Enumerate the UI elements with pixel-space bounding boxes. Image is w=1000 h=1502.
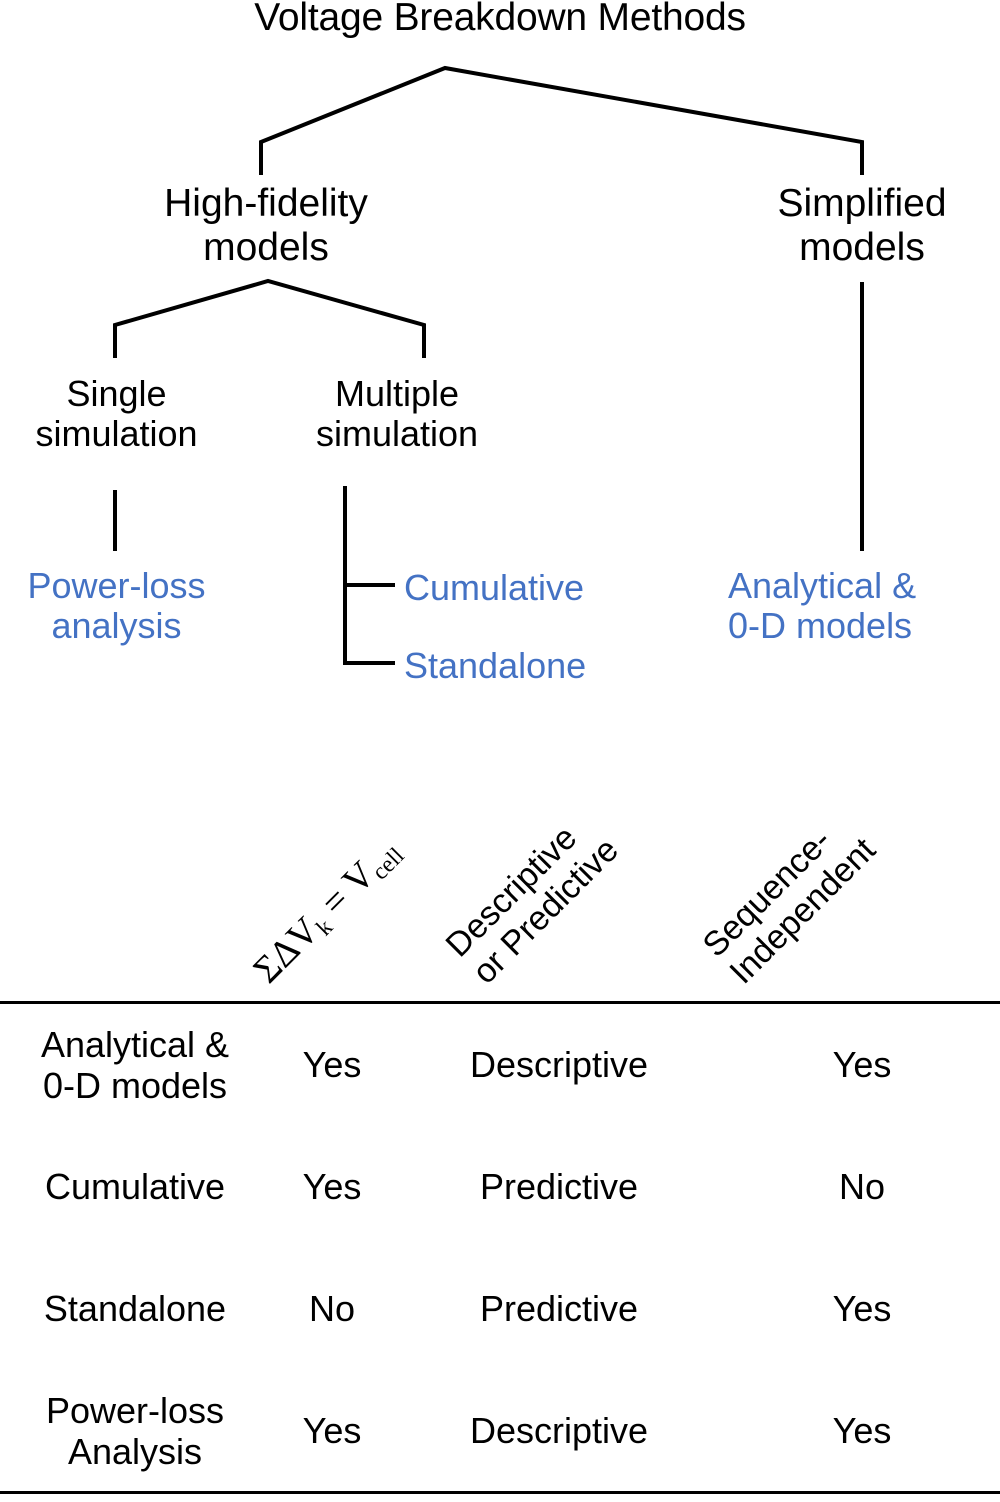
figure-root: Voltage Breakdown Methods High-fidelity … xyxy=(0,0,1000,1502)
cell-descriptive-or-predictive: Descriptive xyxy=(394,1004,724,1126)
cell-descriptive-or-predictive: Predictive xyxy=(394,1126,724,1248)
connector-root xyxy=(261,68,862,175)
cell-sum-delta-v: Yes xyxy=(270,1370,394,1492)
tree-node-multiple-simulation: Multiple simulation xyxy=(262,374,532,455)
cell-sum-delta-v: No xyxy=(270,1248,394,1370)
cell-sequence-independent: Yes xyxy=(724,1248,1000,1370)
cell-descriptive-or-predictive: Predictive xyxy=(394,1248,724,1370)
cell-sequence-independent: Yes xyxy=(724,1004,1000,1126)
cell-method: Power-loss Analysis xyxy=(0,1370,270,1492)
tree-leaf-power-loss-analysis: Power-loss analysis xyxy=(0,566,233,647)
cell-method: Standalone xyxy=(0,1248,270,1370)
table-row: Power-loss Analysis Yes Descriptive Yes xyxy=(0,1370,1000,1492)
tree-node-simplified-models: Simplified models xyxy=(712,182,1000,269)
table-row: Standalone No Predictive Yes xyxy=(0,1248,1000,1370)
cell-sequence-independent: No xyxy=(724,1126,1000,1248)
connector-high-fidelity-split xyxy=(115,281,424,358)
table-column-headers: ΣΔVk = Vcell Descriptive or Predictive S… xyxy=(0,720,1000,1001)
page-title: Voltage Breakdown Methods xyxy=(0,0,1000,40)
table-row: Cumulative Yes Predictive No xyxy=(0,1126,1000,1248)
cell-method: Analytical & 0-D models xyxy=(0,1004,270,1126)
cell-method: Cumulative xyxy=(0,1126,270,1248)
cell-sum-delta-v: Yes xyxy=(270,1126,394,1248)
cell-sequence-independent: Yes xyxy=(724,1370,1000,1492)
tree-leaf-cumulative: Cumulative xyxy=(404,568,654,608)
cell-sum-delta-v: Yes xyxy=(270,1004,394,1126)
comparison-table: ΣΔVk = Vcell Descriptive or Predictive S… xyxy=(0,720,1000,1502)
tree-node-high-fidelity-models: High-fidelity models xyxy=(111,182,421,269)
connector-multiple-trunk xyxy=(345,486,395,663)
table-body: Analytical & 0-D models Yes Descriptive … xyxy=(0,1004,1000,1492)
tree-leaf-analytical-0d-models: Analytical & 0-D models xyxy=(728,566,1000,647)
column-header-sequence-independent: Sequence- Independent xyxy=(558,666,884,992)
table-row: Analytical & 0-D models Yes Descriptive … xyxy=(0,1004,1000,1126)
cell-descriptive-or-predictive: Descriptive xyxy=(394,1370,724,1492)
tree-node-single-simulation: Single simulation xyxy=(0,374,233,455)
column-header-descriptive-or-predictive: Descriptive or Predictive xyxy=(301,666,627,992)
